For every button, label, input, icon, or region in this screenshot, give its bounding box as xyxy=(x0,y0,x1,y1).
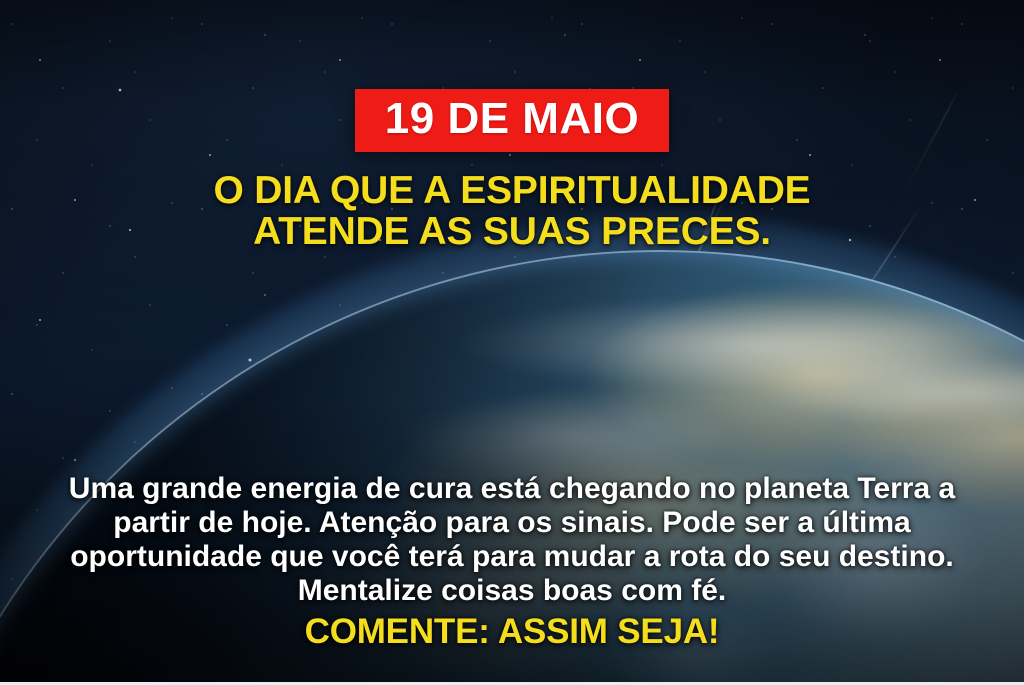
headline-line-1: O DIA QUE A ESPIRITUALIDADE xyxy=(214,170,811,211)
call-to-action-text: COMENTE: ASSIM SEJA! xyxy=(0,613,1024,651)
poster-canvas: 19 DE MAIO O DIA QUE A ESPIRITUALIDADE A… xyxy=(0,0,1024,685)
headline: O DIA QUE A ESPIRITUALIDADE ATENDE AS SU… xyxy=(214,170,811,252)
headline-line-2: ATENDE AS SUAS PRECES. xyxy=(214,211,811,252)
date-badge-label: 19 DE MAIO xyxy=(385,96,639,142)
date-badge: 19 DE MAIO xyxy=(355,89,669,152)
body-paragraph: Uma grande energia de cura está chegando… xyxy=(0,472,1024,608)
